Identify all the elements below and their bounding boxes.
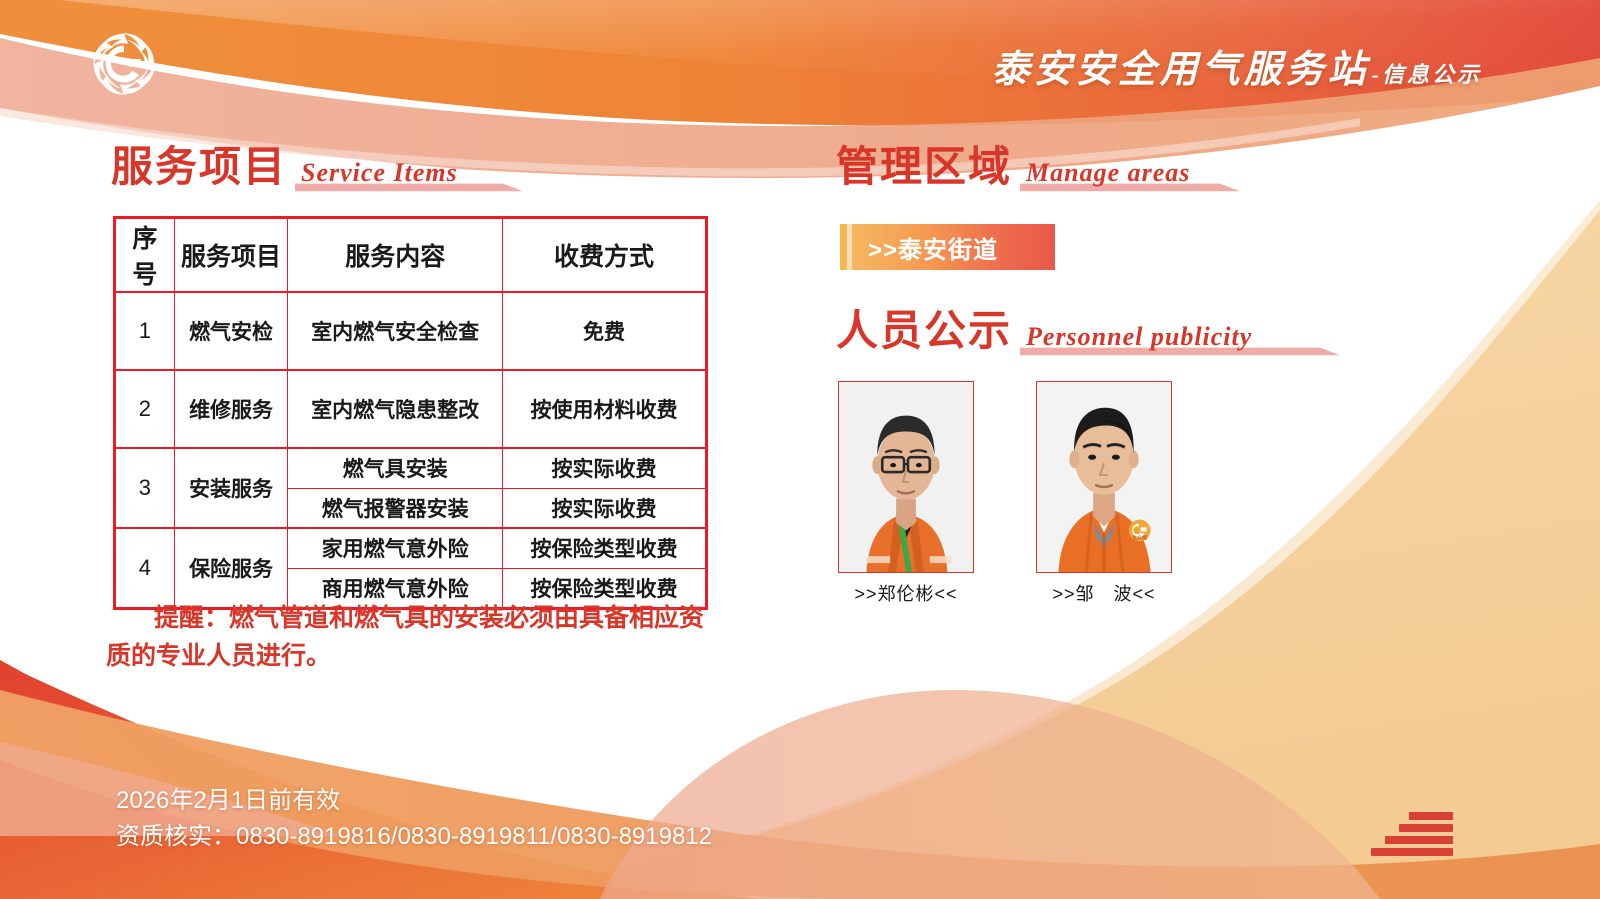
cell-content: 燃气报警器安装 [288,488,503,528]
cell-fee: 免费 [503,292,707,370]
cell-no: 2 [115,370,175,448]
manage-heading-cn: 管理区域 [836,146,1012,188]
cell-fee: 按保险类型收费 [503,528,707,568]
cell-item: 安装服务 [174,448,287,528]
personnel-section-heading: 人员公示 Personnel publicity [836,310,1252,352]
cell-item: 维修服务 [174,370,287,448]
table-header-row: 序号 服务项目 服务内容 收费方式 [115,218,707,293]
cell-item: 燃气安检 [174,292,287,370]
cell-no: 4 [115,528,175,608]
personnel-heading-en: Personnel publicity [1026,322,1252,351]
service-heading-cn: 服务项目 [111,146,287,188]
cell-content: 室内燃气安全检查 [288,292,503,370]
cell-content: 家用燃气意外险 [288,528,503,568]
table-row: 2 维修服务 室内燃气隐患整改 按使用材料收费 [115,370,707,448]
manage-area-item-taian-street[interactable]: >>泰安街道 [840,224,1055,270]
personnel-card[interactable]: 大众燃 [1036,381,1172,606]
area-label: >>泰安街道 [852,230,998,265]
table-row: 4 保险服务 家用燃气意外险 按保险类型收费 [115,528,707,568]
personnel-card[interactable]: >>郑伦彬<< [838,381,974,606]
cell-no: 3 [115,448,175,528]
page-title: 泰安安全用气服务站 -信息公示 [992,38,1482,93]
service-heading-en: Service Items [301,158,458,187]
cell-content: 燃气具安装 [288,448,503,488]
stair-steps-icon [1371,812,1453,860]
col-header-fee: 收费方式 [503,218,707,293]
personnel-heading-cn: 人员公示 [836,310,1012,352]
page-title-main: 泰安安全用气服务站 [992,38,1370,93]
personnel-name: >>郑伦彬<< [854,580,957,606]
info-publicity-poster: 泰安安全用气服务站 -信息公示 服务项目 Service Items 序号 服务… [0,0,1600,899]
service-section-heading: 服务项目 Service Items [111,146,458,188]
personnel-list: >>郑伦彬<< [838,381,1172,606]
cell-fee: 按使用材料收费 [503,370,707,448]
cell-item: 保险服务 [174,528,287,608]
manage-heading-en: Manage areas [1026,158,1190,187]
area-accent-bar [840,224,847,270]
page-title-sub: -信息公示 [1372,57,1482,89]
svg-text:大众燃: 大众燃 [1132,534,1147,541]
footer-validity: 2026年2月1日前有效 [116,783,712,819]
swirl-c-logo-icon [82,22,166,106]
cell-content: 室内燃气隐患整改 [288,370,503,448]
cell-fee: 按实际收费 [503,448,707,488]
avatar [838,381,974,573]
reminder-note: 提醒：燃气管道和燃气具的安装必须由具备相应资质的专业人员进行。 [106,600,718,675]
table-row: 3 安装服务 燃气具安装 按实际收费 [115,448,707,488]
table-row: 1 燃气安检 室内燃气安全检查 免费 [115,292,707,370]
personnel-name: >>邹 波<< [1052,580,1155,606]
footer-verification: 资质核实：0830-8919816/0830-8919811/0830-8919… [116,819,712,855]
avatar: 大众燃 [1036,381,1172,573]
manage-section-heading: 管理区域 Manage areas [836,146,1190,188]
col-header-item: 服务项目 [174,218,287,293]
footer-info: 2026年2月1日前有效 资质核实：0830-8919816/0830-8919… [116,783,712,855]
service-items-table: 序号 服务项目 服务内容 收费方式 1 燃气安检 室内燃气安全检查 免费 2 维… [113,216,708,610]
col-header-content: 服务内容 [288,218,503,293]
cell-fee: 按实际收费 [503,488,707,528]
col-header-no: 序号 [115,218,175,293]
cell-no: 1 [115,292,175,370]
